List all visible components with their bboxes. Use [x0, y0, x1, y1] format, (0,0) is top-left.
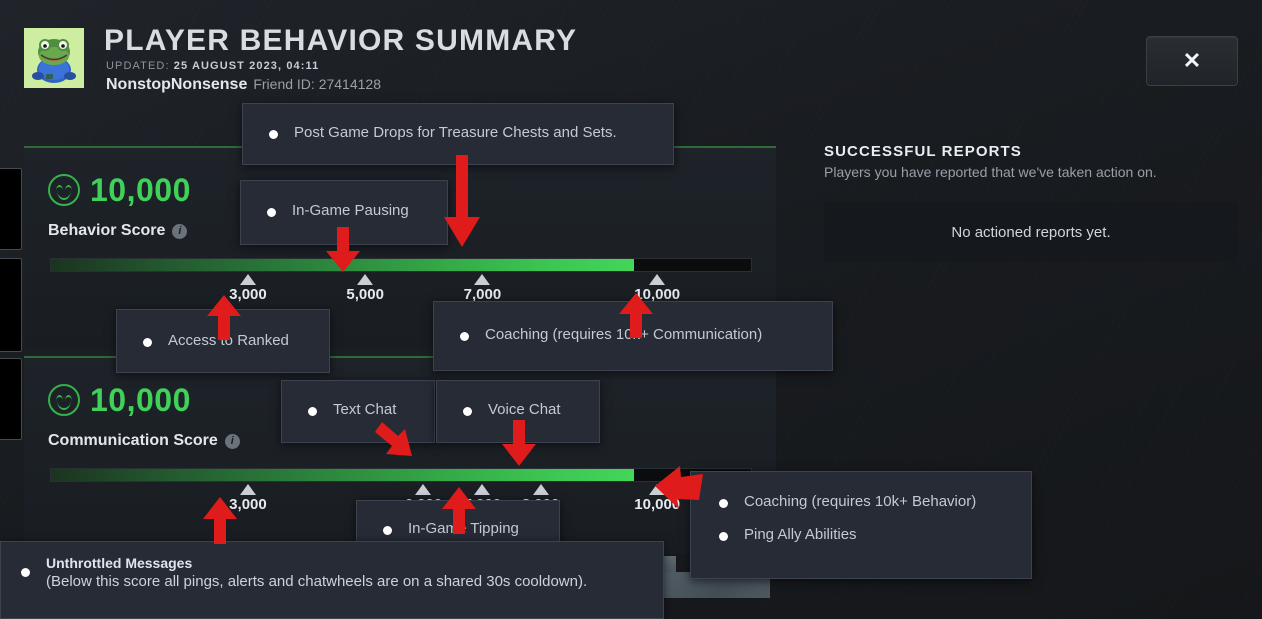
behavior-score-label-text: Behavior Score	[48, 222, 165, 240]
annotation-arrow-down-2	[326, 227, 360, 272]
bullet-icon	[269, 130, 278, 139]
successful-reports-title: SUCCESSFUL REPORTS	[824, 143, 1238, 160]
frog-avatar-icon	[24, 28, 84, 88]
successful-reports-subtitle: Players you have reported that we've tak…	[824, 164, 1238, 180]
edge-tab-1[interactable]	[0, 168, 22, 250]
identity-line: NonstopNonsenseFriend ID: 27414128	[106, 76, 381, 94]
bar-tick-marker	[474, 274, 490, 285]
updated-value: 25 AUGUST 2023, 04:11	[174, 60, 320, 72]
smiley-face-icon	[48, 384, 80, 416]
tooltip-text: Voice Chat	[488, 401, 561, 420]
tooltip-text: Post Game Drops for Treasure Chests and …	[294, 124, 617, 143]
tooltip-text: Unthrottled Messages (Below this score a…	[46, 555, 587, 591]
behavior-bar-track	[50, 258, 752, 272]
communication-score-value: 10,000	[90, 384, 191, 416]
annotation-arrow-up-3	[203, 497, 237, 544]
tooltip-text: In-Game Pausing	[292, 202, 409, 221]
bullet-icon	[308, 407, 317, 416]
behavior-bar: 3,0005,0007,00010,000	[50, 258, 752, 272]
tooltip-text: Text Chat	[333, 401, 396, 420]
communication-bar-track	[50, 468, 752, 482]
tooltip-coaching-ping: Coaching (requires 10k+ Behavior) Ping A…	[690, 471, 1032, 579]
bullet-icon	[460, 332, 469, 341]
annotation-arrow-up-2	[619, 293, 653, 338]
tooltip-text: Coaching (requires 10k+ Behavior)	[744, 493, 976, 512]
annotation-arrow-down-4	[502, 420, 536, 466]
annotation-arrow-down-3	[372, 422, 412, 468]
bullet-icon	[463, 407, 472, 416]
communication-score-label-text: Communication Score	[48, 432, 218, 450]
bar-tick-label: 5,000	[346, 286, 384, 303]
page-title: PLAYER BEHAVIOR SUMMARY	[104, 24, 577, 58]
bar-tick-marker	[649, 274, 665, 285]
friend-id: Friend ID: 27414128	[253, 76, 381, 92]
behavior-score-header: 10,000	[48, 174, 191, 206]
updated-line: UPDATED: 25 AUGUST 2023, 04:11	[106, 60, 319, 72]
player-behavior-summary-dialog: PLAYER BEHAVIOR SUMMARY UPDATED: 25 AUGU…	[0, 0, 1262, 619]
header: PLAYER BEHAVIOR SUMMARY UPDATED: 25 AUGU…	[0, 0, 1262, 110]
bar-tick-marker	[415, 484, 431, 495]
communication-score-header: 10,000	[48, 384, 191, 416]
info-icon[interactable]: i	[172, 224, 187, 239]
bar-tick-marker	[357, 274, 373, 285]
close-button[interactable]: ✕	[1146, 36, 1238, 86]
bullet-icon	[383, 526, 392, 535]
bullet-icon	[267, 208, 276, 217]
communication-bar: 3,0006,0007,0008,00010,000	[50, 468, 752, 482]
annotation-arrow-up-1	[207, 295, 241, 340]
bar-tick-marker	[240, 274, 256, 285]
updated-label: UPDATED:	[106, 60, 170, 72]
bullet-icon	[719, 499, 728, 508]
annotation-arrow-up-4	[442, 487, 476, 534]
behavior-score-value: 10,000	[90, 174, 191, 206]
info-icon[interactable]: i	[225, 434, 240, 449]
smiley-face-icon	[48, 174, 80, 206]
bullet-icon	[21, 568, 30, 577]
communication-score-label: Communication Score i	[48, 432, 240, 450]
bar-tick-marker	[474, 484, 490, 495]
close-icon: ✕	[1183, 50, 1201, 72]
tooltip-text: Ping Ally Abilities	[744, 526, 857, 545]
tooltip-note: (Below this score all pings, alerts and …	[46, 573, 587, 592]
tooltip-title: Unthrottled Messages	[46, 555, 587, 573]
bar-tick-marker	[533, 484, 549, 495]
bar-tick-marker	[240, 484, 256, 495]
annotation-arrow-left-1	[655, 466, 703, 512]
edge-tab-2[interactable]	[0, 258, 22, 352]
behavior-score-label: Behavior Score i	[48, 222, 187, 240]
annotation-arrow-down-1	[443, 155, 481, 247]
bullet-icon	[719, 532, 728, 541]
tooltip-unthrottled-messages: Unthrottled Messages (Below this score a…	[0, 541, 664, 619]
no-reports-message: No actioned reports yet.	[824, 202, 1238, 262]
bullet-icon	[143, 338, 152, 347]
communication-bar-fill	[51, 469, 634, 481]
successful-reports-panel: SUCCESSFUL REPORTS Players you have repo…	[824, 143, 1238, 262]
avatar[interactable]	[24, 28, 84, 88]
edge-tab-3[interactable]	[0, 358, 22, 440]
player-nickname: NonstopNonsense	[106, 76, 247, 93]
